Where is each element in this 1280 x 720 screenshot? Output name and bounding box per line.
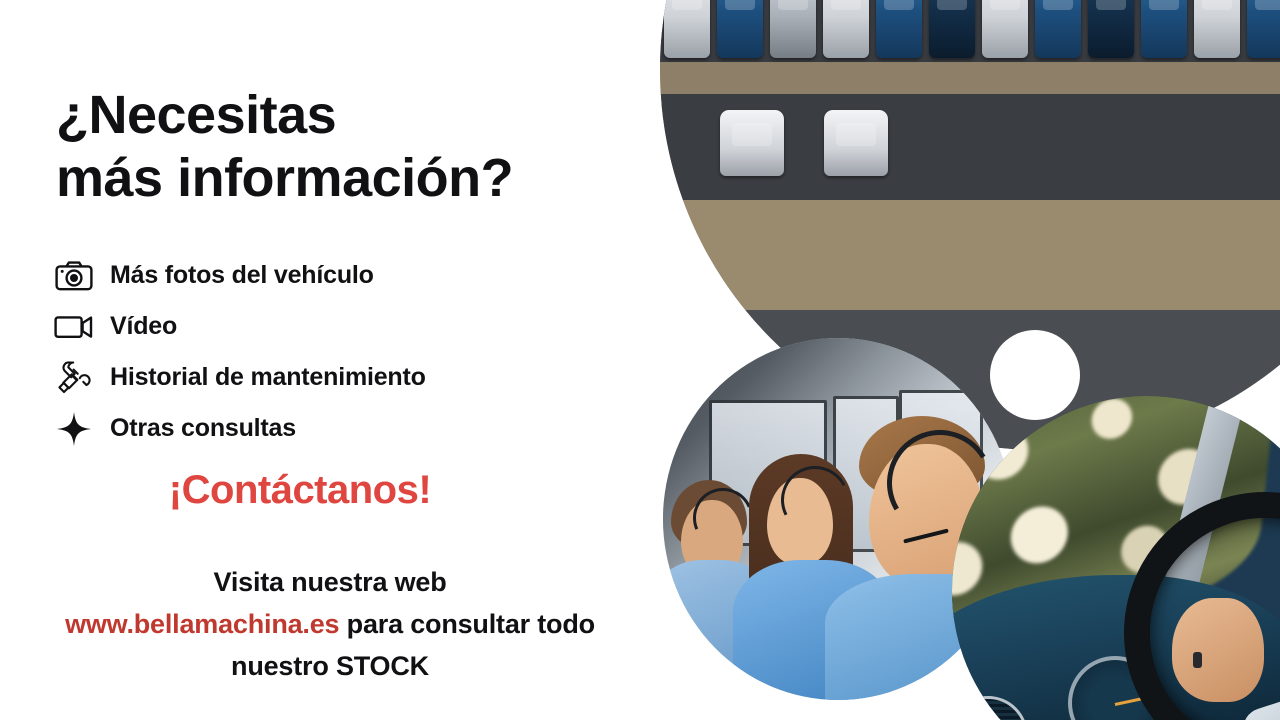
text-column: ¿Necesitas más información? Más fotos de… (0, 0, 680, 720)
driver-hand (1172, 598, 1264, 702)
contact-cta: ¡Contáctanos! (0, 468, 600, 513)
website-line-1: Visita nuestra web (0, 562, 660, 604)
camera-icon (52, 257, 96, 295)
wedding-ring (1193, 652, 1202, 668)
list-item: Vídeo (52, 301, 612, 352)
list-item: Historial de mantenimiento (52, 352, 612, 403)
website-url[interactable]: www.bellamachina.es (65, 609, 339, 639)
promo-poster: + + + + + + + + + + + ⊥ 45 ⊥ 44 ⊥ 43 ⊥ 4… (0, 0, 1280, 720)
sparkle-icon (52, 410, 96, 448)
website-line-3: nuestro STOCK (0, 646, 660, 688)
driving-steering-wheel-photo (952, 396, 1280, 720)
list-item-label: Otras consultas (110, 414, 296, 443)
page-title: ¿Necesitas más información? (56, 84, 513, 209)
list-item-label: Historial de mantenimiento (110, 363, 426, 392)
feature-list: Más fotos del vehículo Vídeo (52, 250, 612, 454)
website-block: Visita nuestra web www.bellamachina.es p… (0, 562, 660, 688)
list-item-label: Vídeo (110, 312, 177, 341)
list-item: Otras consultas (52, 403, 612, 454)
video-camera-icon (52, 308, 96, 346)
car-row (660, 110, 1280, 176)
list-item: Más fotos del vehículo (52, 250, 612, 301)
website-line-2-tail: para consultar todo (339, 609, 595, 639)
website-line-2: www.bellamachina.es para consultar todo (0, 604, 660, 646)
car-row (660, 0, 1280, 58)
wrench-hand-icon (52, 359, 96, 397)
list-item-label: Más fotos del vehículo (110, 261, 374, 290)
